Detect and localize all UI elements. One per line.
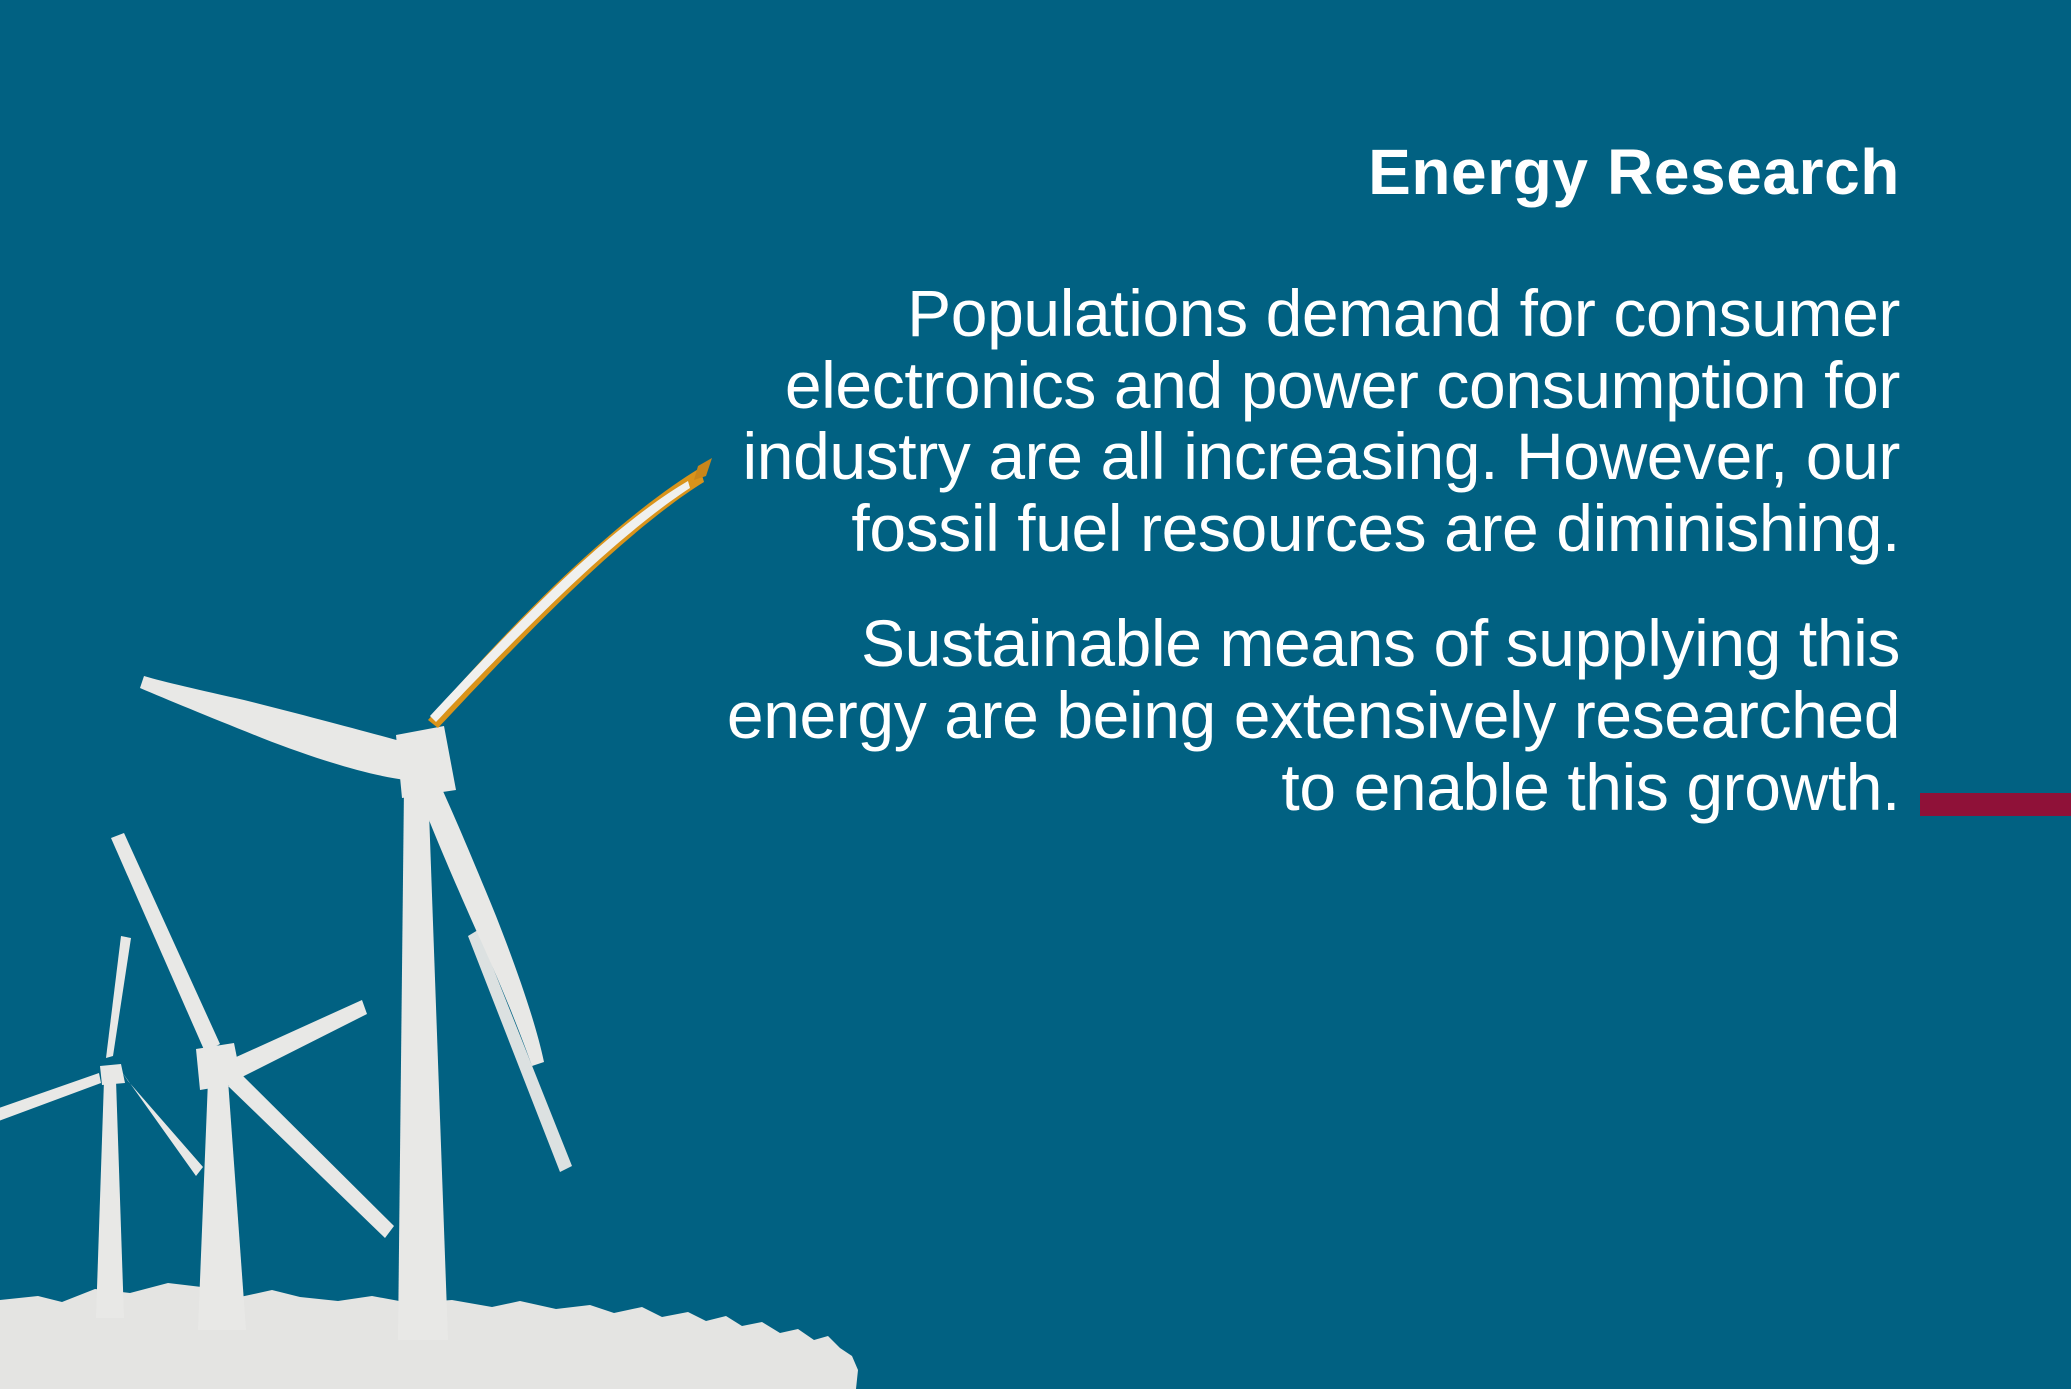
slide-text-column: Energy Research Populations demand for c… xyxy=(700,140,1900,823)
turbine-background-fragments xyxy=(468,930,572,1172)
body-paragraph-2: Sustainable means of supplying this ener… xyxy=(700,608,1900,823)
turbine-main xyxy=(140,458,712,1340)
turbine-mid xyxy=(111,833,394,1330)
ground-slope xyxy=(0,1283,858,1389)
presentation-slide: Energy Research Populations demand for c… xyxy=(0,0,2071,1389)
turbine-small-left xyxy=(0,936,203,1318)
gold-highlighted-blade xyxy=(428,468,704,728)
page-title: Energy Research xyxy=(700,140,1900,204)
body-paragraph-1: Populations demand for consumer electron… xyxy=(700,278,1900,564)
maroon-accent-bar xyxy=(1920,793,2071,816)
